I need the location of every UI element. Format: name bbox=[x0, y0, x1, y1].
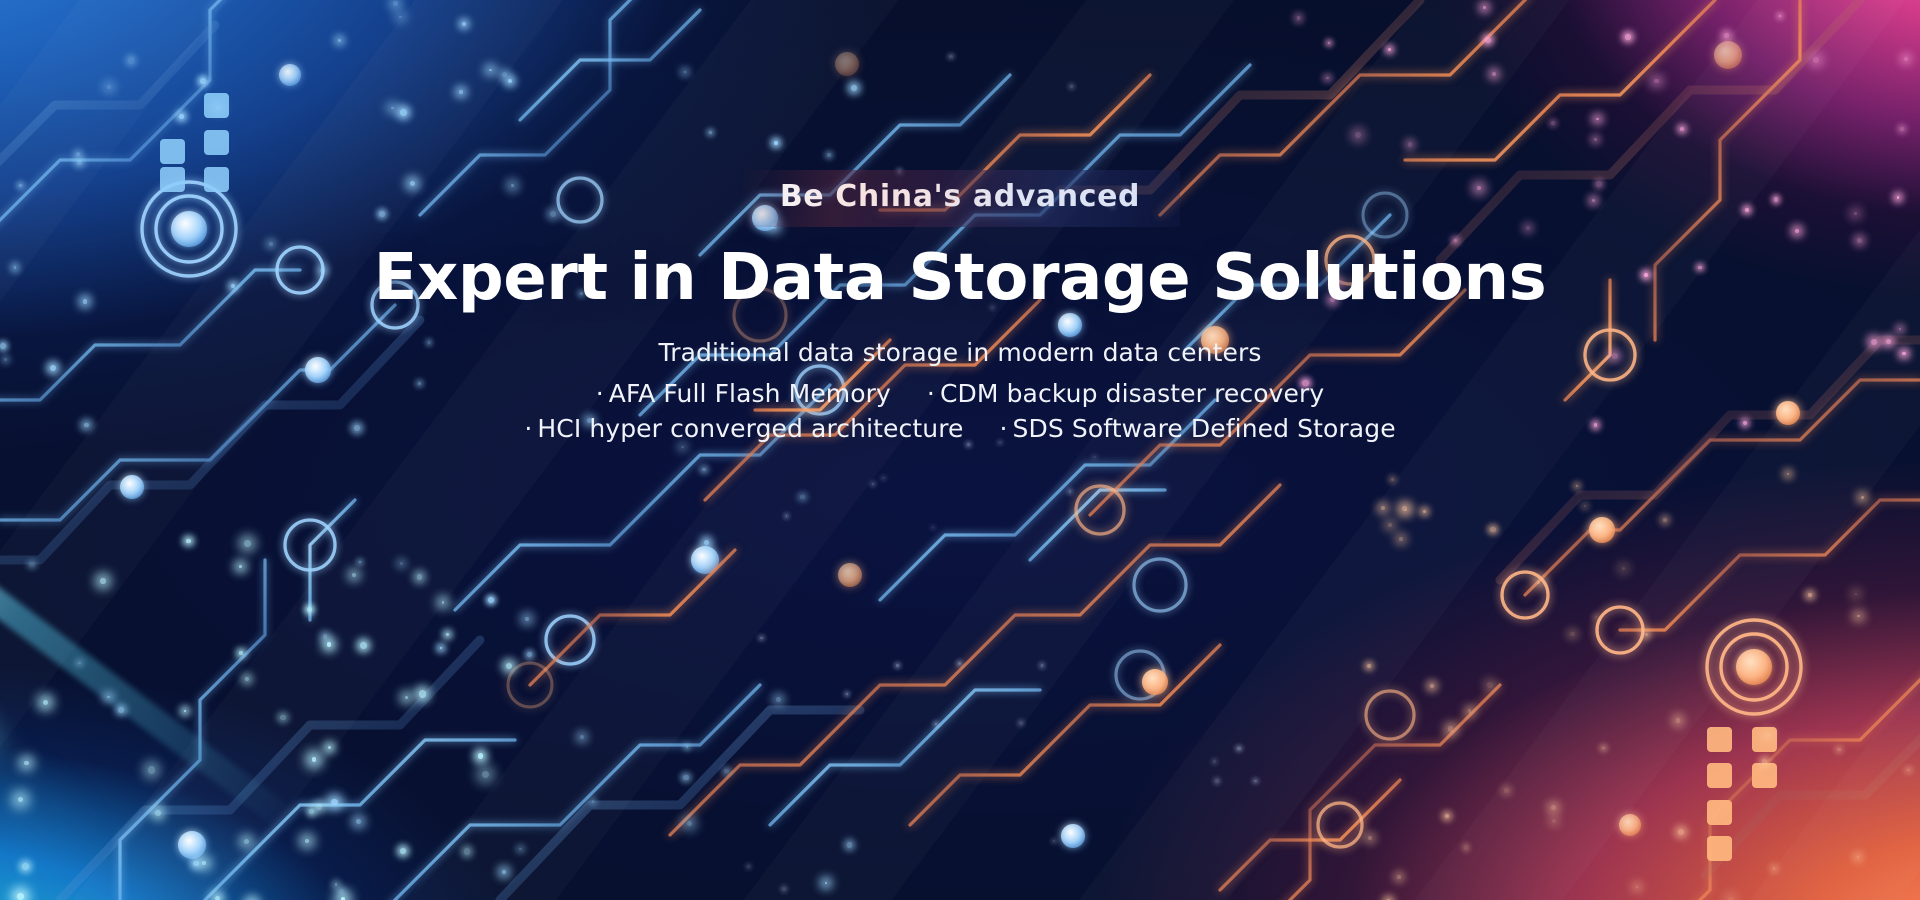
feature-list: ·AFA Full Flash Memory ·CDM backup disas… bbox=[0, 376, 1920, 447]
eyebrow-badge: Be China's advanced bbox=[740, 170, 1180, 227]
hero-subtitle: Traditional data storage in modern data … bbox=[0, 336, 1920, 370]
bullet-dot-icon: · bbox=[927, 379, 935, 408]
feature-item-label: AFA Full Flash Memory bbox=[609, 379, 891, 408]
feature-row: ·HCI hyper converged architecture ·SDS S… bbox=[0, 411, 1920, 447]
circuit-board-graphic bbox=[0, 0, 1920, 900]
page-title: Expert in Data Storage Solutions bbox=[0, 243, 1920, 315]
eyebrow-text: Be China's advanced bbox=[780, 180, 1140, 215]
feature-item-cdm: ·CDM backup disaster recovery bbox=[927, 376, 1324, 412]
bullet-dot-icon: · bbox=[524, 414, 532, 443]
orange-concentric-target-icon bbox=[1707, 620, 1801, 714]
feature-row: ·AFA Full Flash Memory ·CDM backup disas… bbox=[0, 376, 1920, 412]
bullet-dot-icon: · bbox=[596, 379, 604, 408]
bullet-dot-icon: · bbox=[1000, 414, 1008, 443]
feature-item-sds: ·SDS Software Defined Storage bbox=[1000, 411, 1396, 447]
hero-banner: Be China's advanced Expert in Data Stora… bbox=[0, 0, 1920, 900]
hero-text-block: Be China's advanced Expert in Data Stora… bbox=[0, 170, 1920, 447]
feature-item-hci: ·HCI hyper converged architecture bbox=[524, 411, 963, 447]
feature-item-label: HCI hyper converged architecture bbox=[537, 414, 963, 443]
blue-circuit-traces-faint bbox=[0, 25, 860, 900]
feature-item-afa: ·AFA Full Flash Memory bbox=[596, 376, 891, 412]
feature-item-label: SDS Software Defined Storage bbox=[1013, 414, 1396, 443]
feature-item-label: CDM backup disaster recovery bbox=[940, 379, 1324, 408]
